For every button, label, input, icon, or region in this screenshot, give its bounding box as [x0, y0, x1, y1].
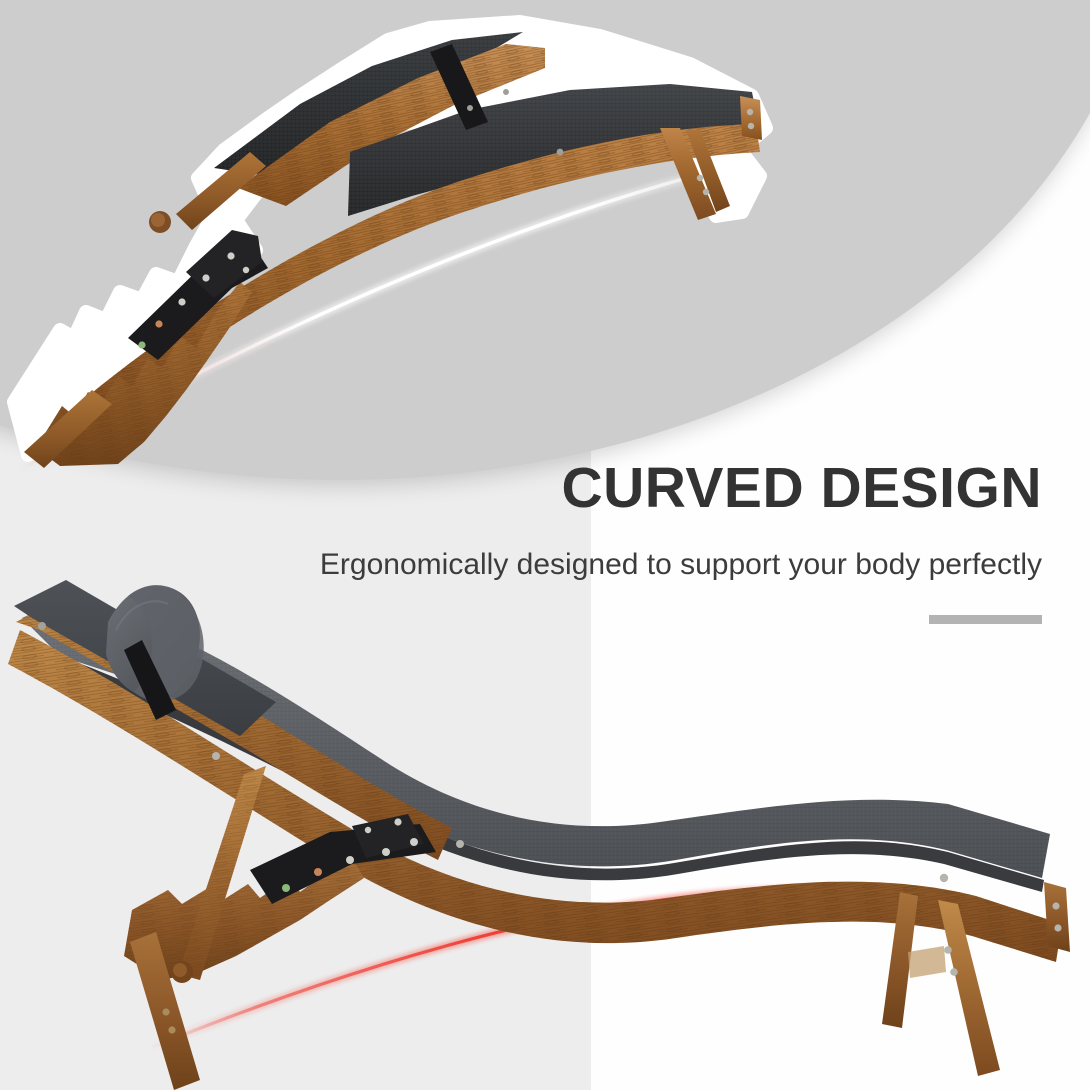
foot-screw	[162, 1008, 169, 1015]
rear-leg-screw	[944, 946, 952, 954]
foot-screw	[168, 1026, 175, 1033]
rail-screw	[467, 105, 473, 111]
product-banner-canvas: CURVED DESIGN Ergonomically designed to …	[0, 0, 1090, 1090]
frame-screw	[456, 840, 464, 848]
rail-screw	[557, 149, 564, 156]
end-cap-screw	[1054, 924, 1061, 931]
rear-leg-screw	[950, 968, 958, 976]
seat-end-cap	[1044, 882, 1070, 952]
product-sun-lounger-open	[0, 560, 1090, 1090]
product-sun-lounger-folded	[0, 0, 820, 470]
accent-rule-bar	[929, 615, 1042, 624]
frame-screw	[38, 622, 46, 630]
hinge-pin	[149, 211, 171, 233]
end-cap-screw	[748, 123, 754, 129]
leg-screw	[703, 189, 709, 195]
rear-leg-brace	[908, 946, 946, 978]
leg-screw	[697, 175, 703, 181]
seat-end-cap	[740, 96, 762, 140]
rail-screw	[503, 89, 509, 95]
frame-screw	[212, 752, 220, 760]
end-cap-screw	[1052, 902, 1059, 909]
rail-screw	[940, 874, 948, 882]
end-cap-screw	[747, 109, 753, 115]
subtitle: Ergonomically designed to support your b…	[240, 546, 1042, 584]
front-leg-hinge-pin	[171, 961, 193, 983]
page-title: CURVED DESIGN	[560, 460, 1042, 517]
